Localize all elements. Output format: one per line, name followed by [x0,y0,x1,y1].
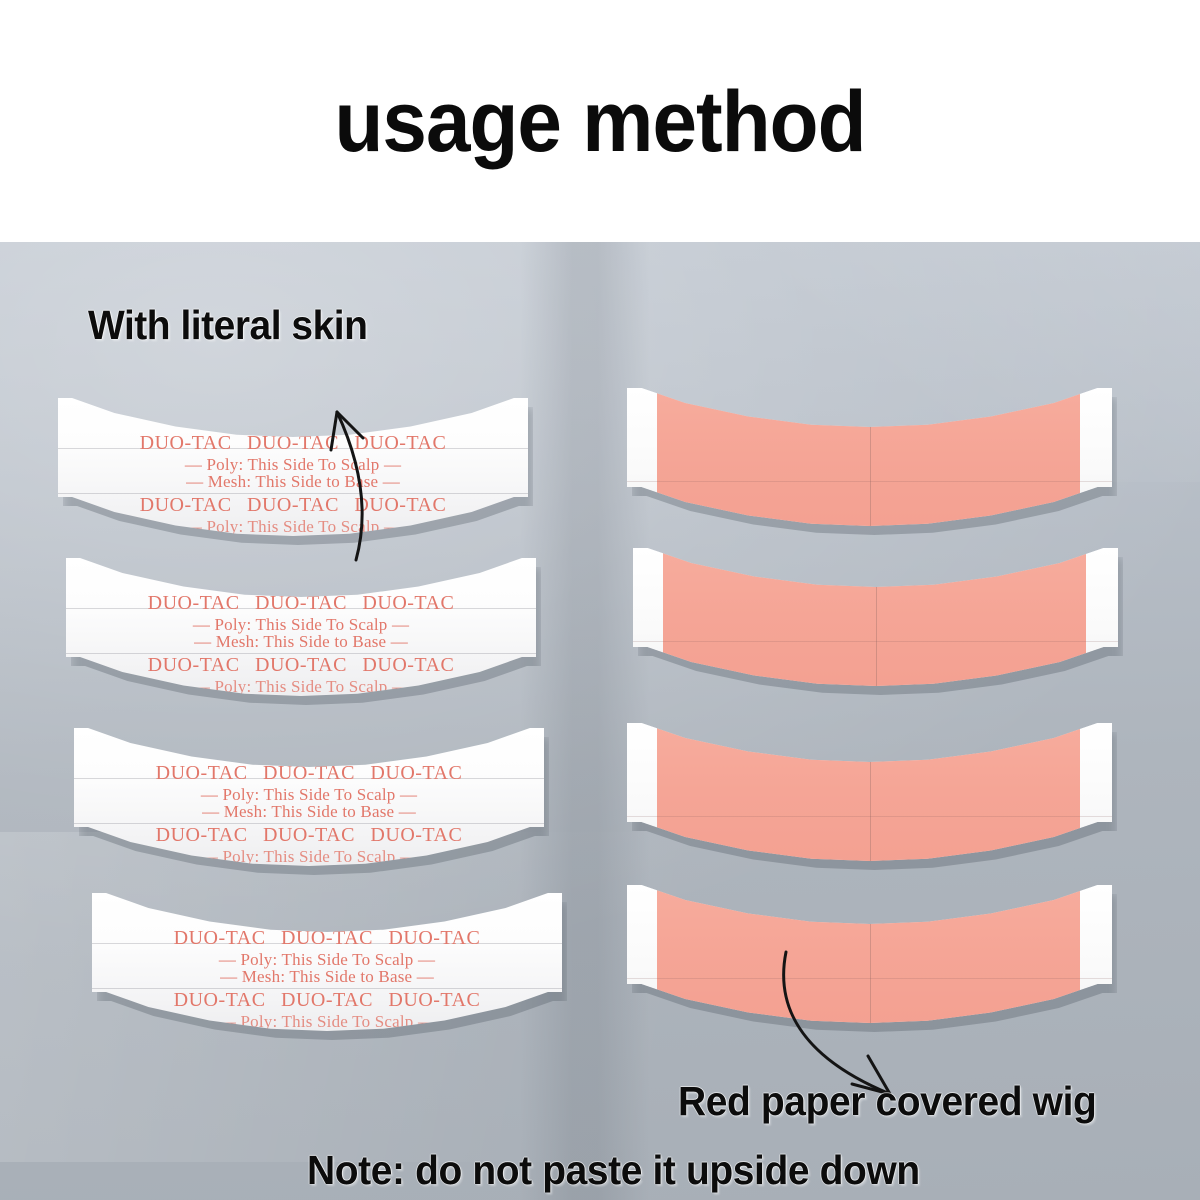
tape-mesh-line: — Mesh: This Side to Base — [194,571,408,588]
white-tape-strip[interactable]: — Mesh: This Side to Base —DUO-TAC DUO-T… [74,728,544,878]
tape-score-line [627,816,1112,817]
tape-strip-surface [627,723,1112,873]
tape-center-seam [870,388,871,538]
red-paper-tape-strip[interactable] [633,548,1118,698]
caption-note-upside-down: Note: do not paste it upside down [307,1147,920,1194]
tape-score-line [92,943,562,944]
tape-score-line [74,823,544,824]
tape-score-line [92,988,562,989]
tape-white-tab-left [627,723,657,873]
product-instruction-image: usage method — Mesh: This Side to Base —… [0,0,1200,1200]
page-title: usage method [42,76,1158,168]
white-tape-strip[interactable]: — Mesh: This Side to Base —DUO-TAC DUO-T… [58,398,528,548]
tape-center-seam [870,723,871,873]
tape-center-seam [870,885,871,1035]
caption-with-literal-skin: With literal skin [88,302,367,349]
tape-strip-surface [627,388,1112,538]
tape-score-line [66,608,536,609]
tape-score-line [58,493,528,494]
tape-white-tab-left [627,388,657,538]
tape-white-tab-left [633,548,663,698]
tape-white-tab-right [1080,388,1112,538]
tape-white-tab-right [1080,885,1112,1035]
tape-score-line [58,448,528,449]
tape-mesh-line: — Mesh: This Side to Base — [220,906,434,923]
column-gap-shading [520,242,650,1200]
tape-white-tab-right [1080,723,1112,873]
tape-score-line [74,778,544,779]
tape-white-tab-left [627,885,657,1035]
tape-strip-surface [92,893,562,1043]
title-band: usage method [0,0,1200,242]
tape-mesh-line: — Mesh: This Side to Base — [202,741,416,758]
tape-score-line [66,653,536,654]
tape-strip-surface [633,548,1118,698]
white-tape-strip[interactable]: — Mesh: This Side to Base —DUO-TAC DUO-T… [66,558,536,708]
red-paper-tape-strip[interactable] [627,388,1112,538]
tape-score-line [633,641,1118,642]
tape-strip-surface [627,885,1112,1035]
caption-red-paper-covered-wig: Red paper covered wig [678,1078,1096,1125]
red-paper-tape-strip[interactable] [627,723,1112,873]
tape-score-line [627,481,1112,482]
tape-strip-surface [58,398,528,548]
red-paper-tape-strip[interactable] [627,885,1112,1035]
tape-mesh-line: — Mesh: This Side to Base — [186,411,400,428]
tape-white-tab-right [1086,548,1118,698]
white-tape-strip[interactable]: — Mesh: This Side to Base —DUO-TAC DUO-T… [92,893,562,1043]
product-photo: — Mesh: This Side to Base —DUO-TAC DUO-T… [0,242,1200,1200]
tape-center-seam [876,548,877,698]
tape-score-line [627,978,1112,979]
tape-strip-surface [66,558,536,708]
tape-strip-surface [74,728,544,878]
